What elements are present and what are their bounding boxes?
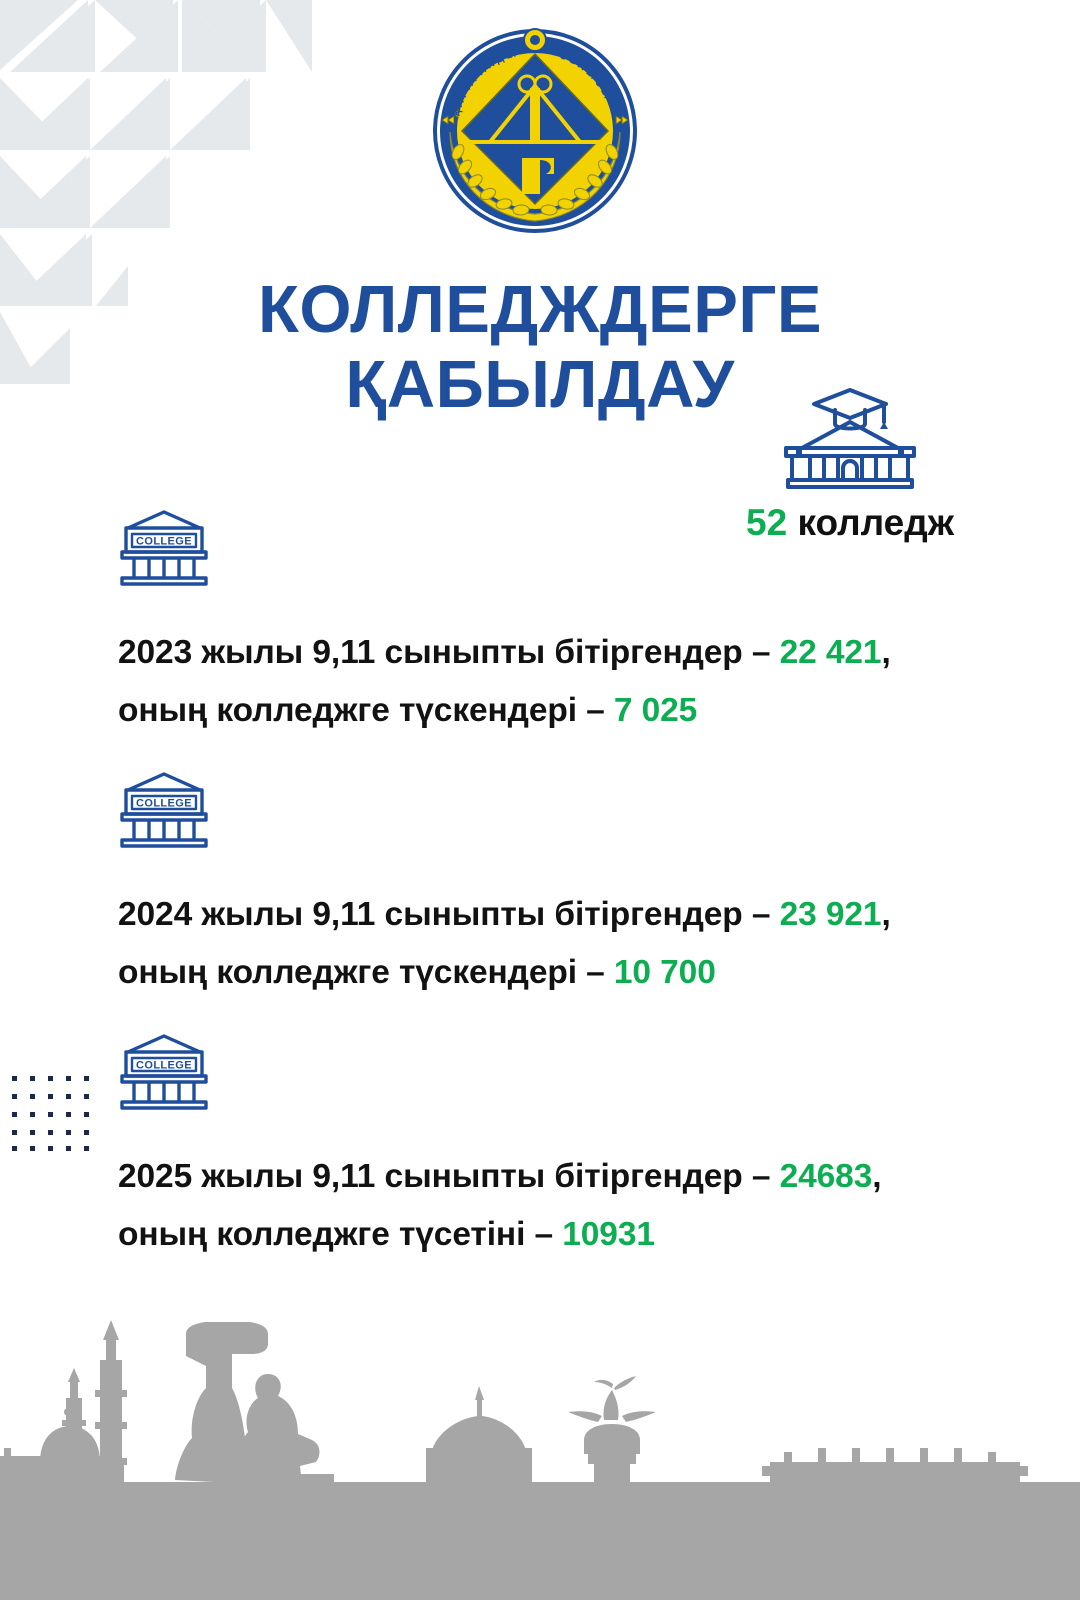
line2-prefix: оның колледжге түсетіні – xyxy=(118,1216,562,1253)
colleges-total-block: 52 колледж xyxy=(700,378,1000,544)
year-row-2023-line-2: оның колледжге түскендері – 7 025 xyxy=(118,682,998,740)
year-row-2024-text: 2024 жылы 9,11 сыныпты бітіргендер – 23 … xyxy=(118,886,998,1001)
line1-value: 24683 xyxy=(780,1158,873,1195)
year-row-2023-line-1: 2023 жылы 9,11 сыныпты бітіргендер – 22 … xyxy=(118,624,998,682)
college-icon-label: COLLEGE xyxy=(136,536,192,548)
karaganda-region-emblem: ҚАРАҒАНДЫ ОБЛЫСЫ xyxy=(428,24,642,238)
year-row-2025-text: 2025 жылы 9,11 сыныпты бітіргендер – 246… xyxy=(118,1148,998,1263)
colleges-label: колледж xyxy=(797,502,954,543)
infographic-page: ҚАРАҒАНДЫ ОБЛЫСЫ КОЛЛЕДЖДЕРГЕ ҚАБЫЛДАУ xyxy=(0,0,1080,1600)
line1-prefix: 2024 жылы 9,11 сыныпты бітіргендер – xyxy=(118,896,780,933)
college-building-icon: COLLEGE xyxy=(118,1030,210,1110)
line2-value: 10 700 xyxy=(614,954,716,991)
line2-prefix: оның колледжге түскендері – xyxy=(118,692,614,729)
year-row-2024-line-1: 2024 жылы 9,11 сыныпты бітіргендер – 23 … xyxy=(118,886,998,944)
line1-suffix: , xyxy=(881,634,890,671)
line1-value: 22 421 xyxy=(780,634,882,671)
karaganda-city-skyline-silhouette xyxy=(0,1270,1080,1600)
year-row-2024-line-2: оның колледжге түскендері – 10 700 xyxy=(118,944,998,1002)
university-graduation-icon xyxy=(700,378,1000,490)
college-icon-label: COLLEGE xyxy=(136,1060,192,1072)
line2-value: 7 025 xyxy=(614,692,697,729)
line2-prefix: оның колледжге түскендері – xyxy=(118,954,614,991)
line1-suffix: , xyxy=(881,896,890,933)
college-icon-label: COLLEGE xyxy=(136,798,192,810)
line1-prefix: 2025 жылы 9,11 сыныпты бітіргендер – xyxy=(118,1158,780,1195)
line1-prefix: 2023 жылы 9,11 сыныпты бітіргендер – xyxy=(118,634,780,671)
year-row-2025-line-2: оның колледжге түсетіні – 10931 xyxy=(118,1206,998,1264)
page-title-line-1: КОЛЛЕДЖДЕРГЕ xyxy=(150,272,930,347)
colleges-total-caption: 52 колледж xyxy=(700,502,1000,544)
line1-value: 23 921 xyxy=(780,896,882,933)
year-row-2025-line-1: 2025 жылы 9,11 сыныпты бітіргендер – 246… xyxy=(118,1148,998,1206)
line1-suffix: , xyxy=(872,1158,881,1195)
year-row-2023-text: 2023 жылы 9,11 сыныпты бітіргендер – 22 … xyxy=(118,624,998,739)
college-building-icon: COLLEGE xyxy=(118,768,210,848)
line2-value: 10931 xyxy=(562,1216,655,1253)
colleges-count: 52 xyxy=(746,502,787,543)
dot-grid-pattern xyxy=(8,1072,94,1152)
college-building-icon: COLLEGE xyxy=(118,506,210,586)
